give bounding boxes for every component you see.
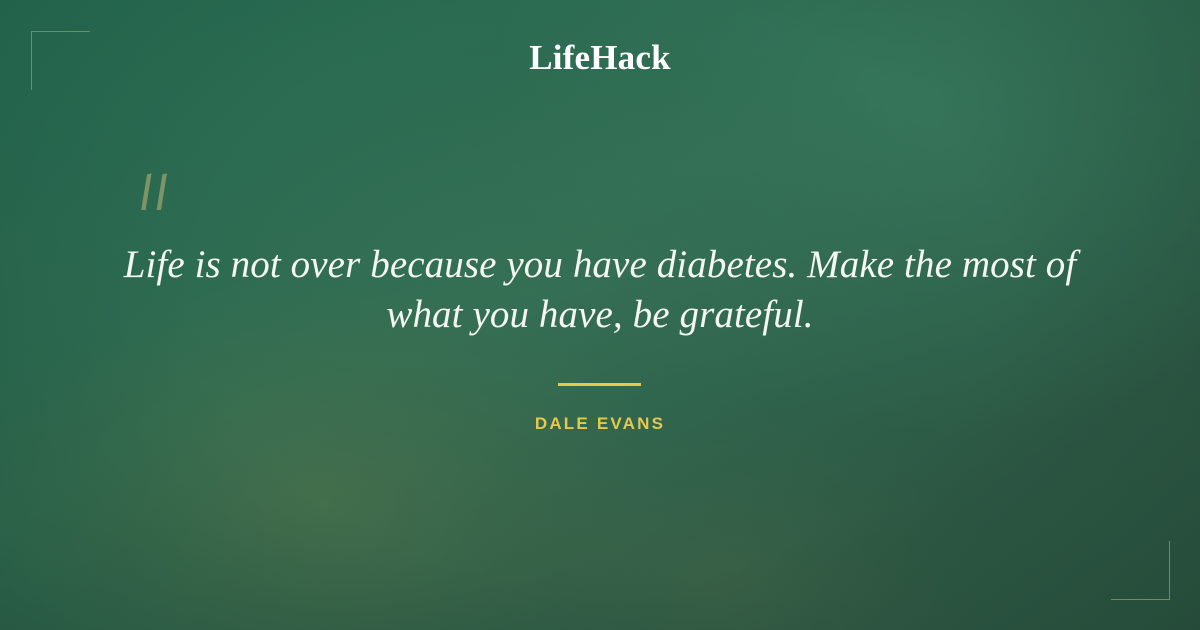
quote-author: DALE EVANS — [0, 414, 1200, 434]
brand-logo: LifeHack — [0, 39, 1200, 78]
quote-text: Life is not over because you have diabet… — [100, 240, 1100, 340]
gold-divider — [558, 383, 641, 386]
quote-line-1: Life is not over because you have diabet… — [124, 243, 1077, 286]
corner-bracket-bottom-right-icon — [1111, 541, 1170, 600]
double-quote-icon — [128, 158, 188, 216]
quote-card: LifeHack Life is not over because you ha… — [0, 0, 1200, 630]
quote-line-2: what you have, be grateful. — [386, 293, 813, 336]
